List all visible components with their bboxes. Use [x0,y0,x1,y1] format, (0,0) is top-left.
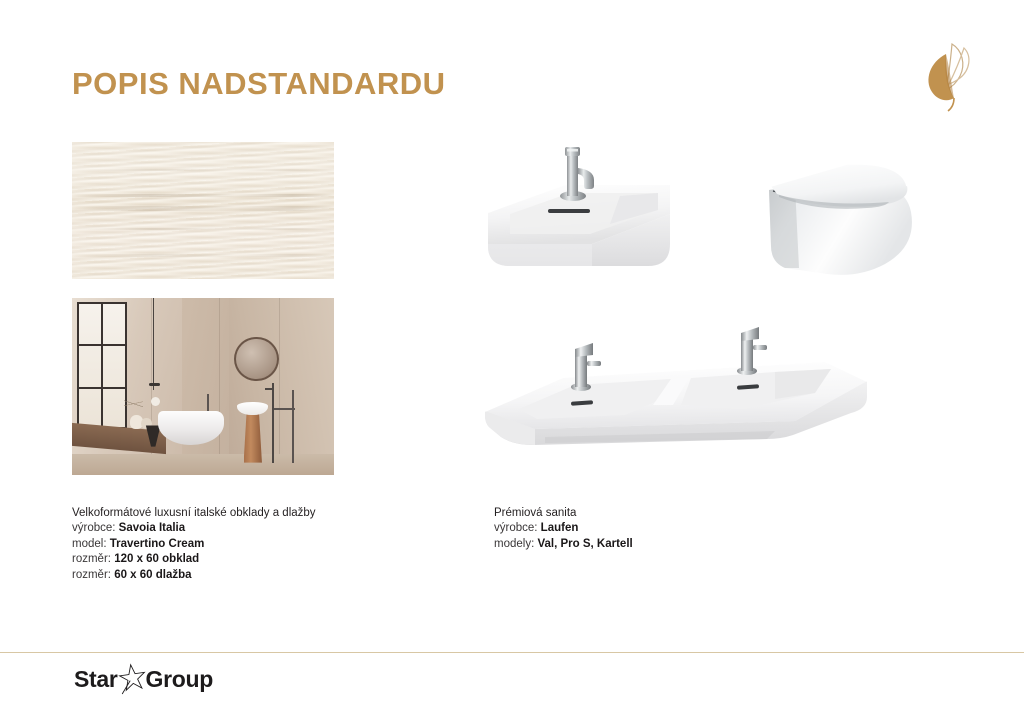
caption-tiles-row-3-label: rozměr: [72,569,111,581]
slide-page: POPIS NADSTANDARDU [0,0,1024,724]
caption-tiles-row-2-label: rozměr: [72,553,111,565]
caption-tiles-row-2-value: 120 x 60 obklad [114,553,199,565]
leaf-logo [908,36,988,116]
caption-sanitary-row-0-label: výrobce: [494,522,537,534]
logo-word-star: Star [74,668,118,691]
caption-tiles-row-1-label: model: [72,538,107,550]
star-icon [117,663,147,695]
product-gallery [470,130,970,470]
caption-tiles-row-3-value: 60 x 60 dlažba [114,569,191,581]
bathroom-interior-photo [72,298,334,475]
star-group-logo: Star Group [74,662,213,696]
logo-word-group: Group [146,668,214,691]
caption-sanitary-heading: Prémiová sanita [494,506,824,521]
caption-sanitary-row: výrobce: Laufen [494,521,824,536]
caption-tiles-row: rozměr: 60 x 60 dlažba [72,568,402,583]
caption-tiles-row: výrobce: Savoia Italia [72,521,402,536]
double-washbasin-photo [475,325,875,460]
wall-hung-wc-photo [755,150,930,295]
caption-sanitary-row-1-value: Val, Pro S, Kartell [537,538,632,550]
caption-sanitary-row: modely: Val, Pro S, Kartell [494,537,824,552]
caption-sanitary: Prémiová sanita výrobce: Laufen modely: … [494,506,824,552]
caption-sanitary-row-0-value: Laufen [541,522,579,534]
caption-tiles-row-0-label: výrobce: [72,522,115,534]
caption-sanitary-row-1-label: modely: [494,538,534,550]
caption-tiles-row: model: Travertino Cream [72,537,402,552]
caption-tiles: Velkoformátové luxusní italské obklady a… [72,506,402,583]
caption-tiles-row: rozměr: 120 x 60 obklad [72,552,402,567]
caption-tiles-row-0-value: Savoia Italia [119,522,185,534]
caption-tiles-heading: Velkoformátové luxusní italské obklady a… [72,506,402,521]
caption-tiles-row-1-value: Travertino Cream [110,538,205,550]
travertine-tile-swatch [72,142,334,279]
page-title: POPIS NADSTANDARDU [72,66,446,102]
square-washbasin-photo [470,140,710,290]
footer-divider [0,652,1024,653]
